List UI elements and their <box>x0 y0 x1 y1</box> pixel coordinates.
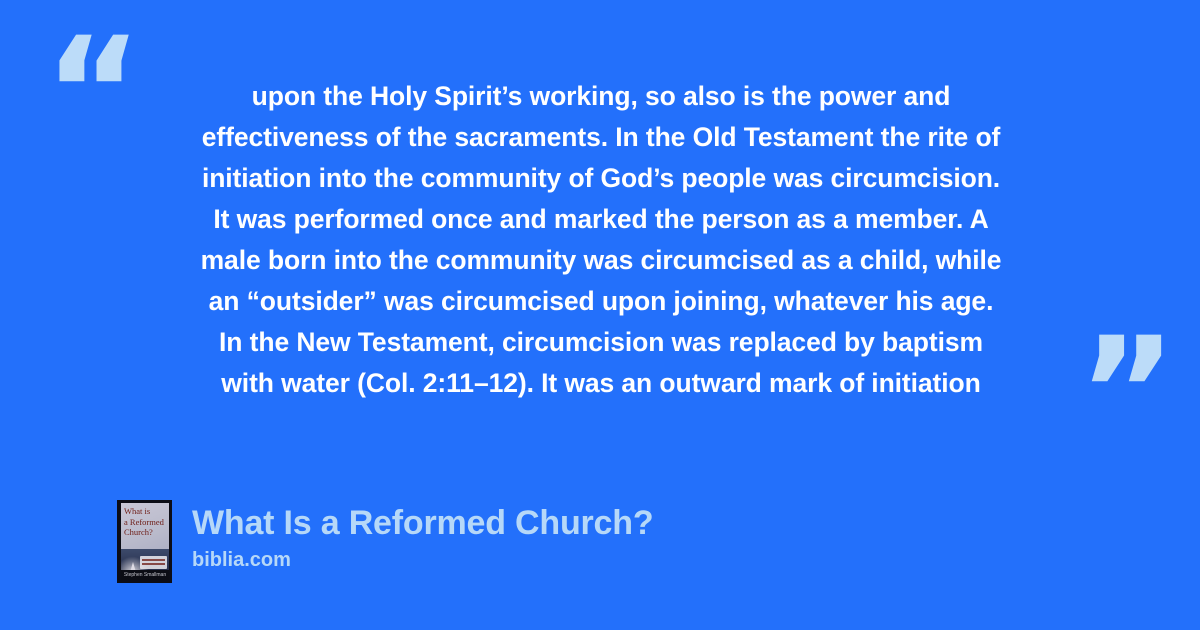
footer-text-group: What Is a Reformed Church? biblia.com <box>192 500 653 572</box>
book-title[interactable]: What Is a Reformed Church? <box>192 504 653 542</box>
attribution-footer: What is a Reformed Church? Stephen Small… <box>117 500 653 583</box>
book-cover-title-line-1: What is <box>124 506 167 517</box>
quote-block: upon the Holy Spirit’s working, so also … <box>96 76 1106 404</box>
book-cover-face: What is a Reformed Church? Stephen Small… <box>121 503 169 580</box>
badge-line-2 <box>142 563 165 565</box>
book-cover-title: What is a Reformed Church? <box>124 506 167 538</box>
closing-quote-mark: ” <box>1078 318 1177 468</box>
book-cover-title-line-3: Church? <box>124 527 167 538</box>
site-url[interactable]: biblia.com <box>192 548 653 572</box>
quote-text: upon the Holy Spirit’s working, so also … <box>96 76 1106 404</box>
badge-line-1 <box>142 559 165 561</box>
book-cover-subtitle-badge <box>140 556 167 569</box>
quote-card: “ upon the Holy Spirit’s working, so als… <box>0 0 1200 630</box>
book-cover-author: Stephen Smallman <box>121 570 169 580</box>
book-cover-thumbnail[interactable]: What is a Reformed Church? Stephen Small… <box>117 500 172 583</box>
book-cover-title-line-2: a Reformed <box>124 517 167 528</box>
